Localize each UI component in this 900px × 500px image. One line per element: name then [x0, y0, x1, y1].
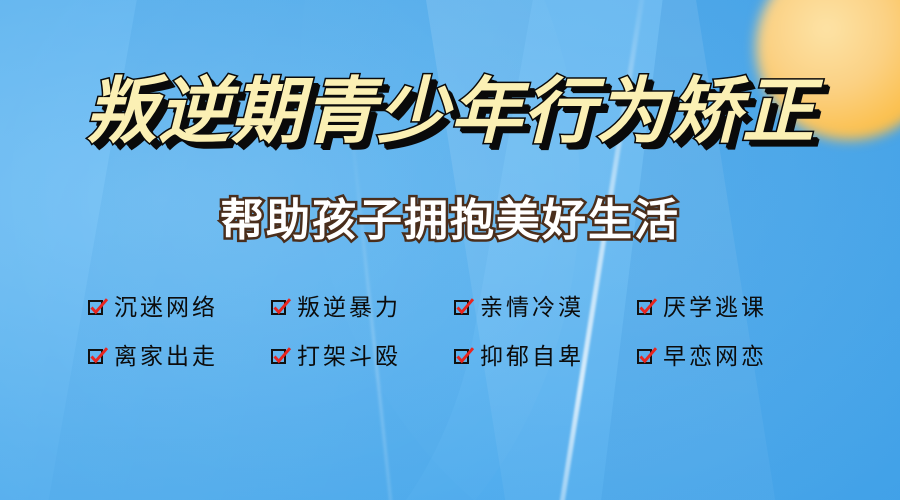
list-item-label: 厌学逃课: [663, 296, 767, 319]
list-item[interactable]: 打架斗殴: [271, 345, 454, 368]
list-item-label: 打架斗殴: [297, 345, 401, 368]
checkbox-checked-icon[interactable]: [637, 297, 658, 318]
promo-banner: 叛逆期青少年行为矫正 帮助孩子拥抱美好生活 沉迷网络: [0, 0, 900, 500]
list-item[interactable]: 早恋网恋: [637, 345, 820, 368]
list-item-label: 亲情冷漠: [480, 296, 584, 319]
list-item-label: 叛逆暴力: [297, 296, 401, 319]
checkbox-checked-icon[interactable]: [88, 346, 109, 367]
list-item[interactable]: 离家出走: [88, 345, 271, 368]
list-item[interactable]: 沉迷网络: [88, 296, 271, 319]
checkbox-checked-icon[interactable]: [88, 297, 109, 318]
banner-title: 叛逆期青少年行为矫正: [0, 76, 900, 148]
list-item[interactable]: 厌学逃课: [637, 296, 820, 319]
list-item-label: 沉迷网络: [114, 296, 218, 319]
checkbox-checked-icon[interactable]: [637, 346, 658, 367]
list-item-label: 早恋网恋: [663, 345, 767, 368]
list-item-label: 离家出走: [114, 345, 218, 368]
banner-content: 叛逆期青少年行为矫正 帮助孩子拥抱美好生活 沉迷网络: [0, 0, 900, 500]
checkbox-checked-icon[interactable]: [454, 346, 475, 367]
list-item-label: 抑郁自卑: [480, 345, 584, 368]
issue-list: 沉迷网络 叛逆暴力 亲情冷漠: [88, 296, 820, 368]
list-item[interactable]: 叛逆暴力: [271, 296, 454, 319]
list-item[interactable]: 亲情冷漠: [454, 296, 637, 319]
list-item[interactable]: 抑郁自卑: [454, 345, 637, 368]
checkbox-checked-icon[interactable]: [454, 297, 475, 318]
checkbox-checked-icon[interactable]: [271, 297, 292, 318]
banner-subtitle: 帮助孩子拥抱美好生活: [0, 199, 900, 243]
checkbox-checked-icon[interactable]: [271, 346, 292, 367]
